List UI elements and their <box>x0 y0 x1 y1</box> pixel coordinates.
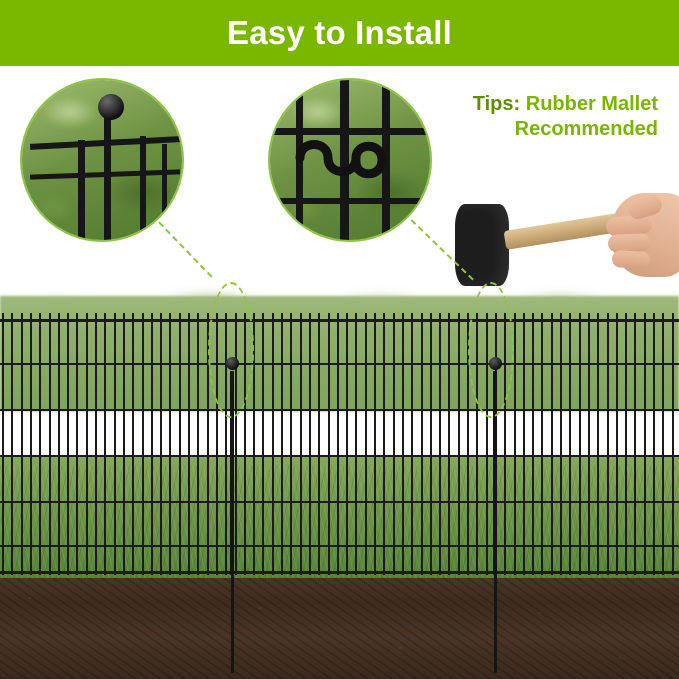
fence-vertical-wire <box>439 313 441 575</box>
header-banner: Easy to Install <box>0 0 679 66</box>
fence-horizontal-rail <box>0 501 679 503</box>
highlight-ellipse-connector <box>468 282 514 418</box>
callout-post-cap-wire-v2 <box>104 116 111 240</box>
fence-vertical-wire <box>123 313 125 575</box>
callout-post-cap-wire-v1 <box>78 140 85 240</box>
fence-vertical-wire <box>383 313 385 575</box>
fence-vertical-wire <box>662 313 664 575</box>
tips-label: Tips: <box>473 93 520 115</box>
fence-vertical-wire <box>402 313 404 575</box>
fence-vertical-wire <box>448 313 450 575</box>
product-infographic: Easy to Install <box>0 0 679 679</box>
fence-vertical-wire <box>393 313 395 575</box>
fence-vertical-wire <box>421 313 423 575</box>
ground-stake <box>494 575 497 673</box>
fence-vertical-wire <box>523 313 525 575</box>
fence-vertical-wire <box>541 313 543 575</box>
fence-horizontal-rail <box>0 455 679 457</box>
tips-line-1: Tips: Rubber Mallet <box>404 92 658 117</box>
fence-vertical-wire <box>355 313 357 575</box>
page-title: Easy to Install <box>227 14 452 52</box>
ground-stake <box>231 575 234 673</box>
fence-vertical-wire <box>365 313 367 575</box>
tips-line-1-text: Rubber Mallet <box>526 93 658 115</box>
fence-vertical-wire <box>588 313 590 575</box>
fence-vertical-wire <box>272 313 274 575</box>
highlight-ellipse-post-cap <box>208 282 254 418</box>
fence-horizontal-rail <box>0 571 679 574</box>
fence-vertical-wire <box>309 313 311 575</box>
fence-horizontal-rail <box>0 319 679 322</box>
fence-vertical-wire <box>625 313 627 575</box>
fence-horizontal-rail <box>0 363 679 365</box>
fence-vertical-wire <box>551 313 553 575</box>
fence-vertical-wire <box>653 313 655 575</box>
fence-vertical-wire <box>328 313 330 575</box>
fence-vertical-wire <box>532 313 534 575</box>
fence-horizontal-rail <box>0 545 679 547</box>
fence-vertical-wire <box>11 313 13 575</box>
finger-2 <box>608 233 651 252</box>
fence-vertical-wire <box>95 313 97 575</box>
fence-vertical-wire <box>2 313 4 575</box>
fence-vertical-wire <box>151 313 153 575</box>
fence-vertical-wire <box>300 313 302 575</box>
fence-vertical-wire <box>142 313 144 575</box>
fence-vertical-wire <box>114 313 116 575</box>
fence-vertical-wire <box>318 313 320 575</box>
fence-vertical-wire <box>160 313 162 575</box>
finger-3 <box>612 250 651 269</box>
fence-vertical-wire <box>290 313 292 575</box>
product-scene: Tips: Rubber Mallet Recommended <box>0 66 679 679</box>
fence-vertical-wire <box>337 313 339 575</box>
tips-text: Tips: Rubber Mallet Recommended <box>404 92 658 142</box>
fence-vertical-wire <box>262 313 264 575</box>
fence-vertical-wire <box>672 313 674 575</box>
callout-post-cap-ball <box>98 94 124 120</box>
callout-post-cap-wire-v3 <box>140 136 146 240</box>
callout-post-cap-wire-v4 <box>162 144 167 240</box>
fence-horizontal-rail <box>0 409 679 411</box>
fence-vertical-wire <box>30 313 32 575</box>
fence-vertical-wire <box>21 313 23 575</box>
fence-vertical-wire <box>67 313 69 575</box>
fence-vertical-wire <box>374 313 376 575</box>
fence-vertical-wire <box>346 313 348 575</box>
fence-vertical-wire <box>197 313 199 575</box>
fence-assembly <box>0 313 679 603</box>
fence-vertical-wire <box>169 313 171 575</box>
fence-vertical-wire <box>132 313 134 575</box>
fence-vertical-wire <box>281 313 283 575</box>
fence-vertical-wire <box>411 313 413 575</box>
fence-vertical-wire <box>607 313 609 575</box>
fence-vertical-wire <box>597 313 599 575</box>
fence-vertical-wire <box>616 313 618 575</box>
fence-vertical-wire <box>58 313 60 575</box>
fence-vertical-wire <box>634 313 636 575</box>
fence-vertical-wire <box>49 313 51 575</box>
fence-vertical-wire <box>188 313 190 575</box>
fence-vertical-wire <box>560 313 562 575</box>
fence-vertical-wire <box>76 313 78 575</box>
rubber-mallet-head <box>455 204 509 286</box>
fence-vertical-wire <box>179 313 181 575</box>
fence-vertical-wire <box>86 313 88 575</box>
fence-vertical-wire <box>644 313 646 575</box>
fence-vertical-wire <box>579 313 581 575</box>
fence-vertical-wire <box>569 313 571 575</box>
fence-vertical-wire <box>104 313 106 575</box>
fence-vertical-wire <box>458 313 460 575</box>
tips-line-2-text: Recommended <box>404 117 658 142</box>
fence-vertical-wire <box>39 313 41 575</box>
callout-post-cap <box>20 78 184 242</box>
fence-vertical-wire <box>430 313 432 575</box>
